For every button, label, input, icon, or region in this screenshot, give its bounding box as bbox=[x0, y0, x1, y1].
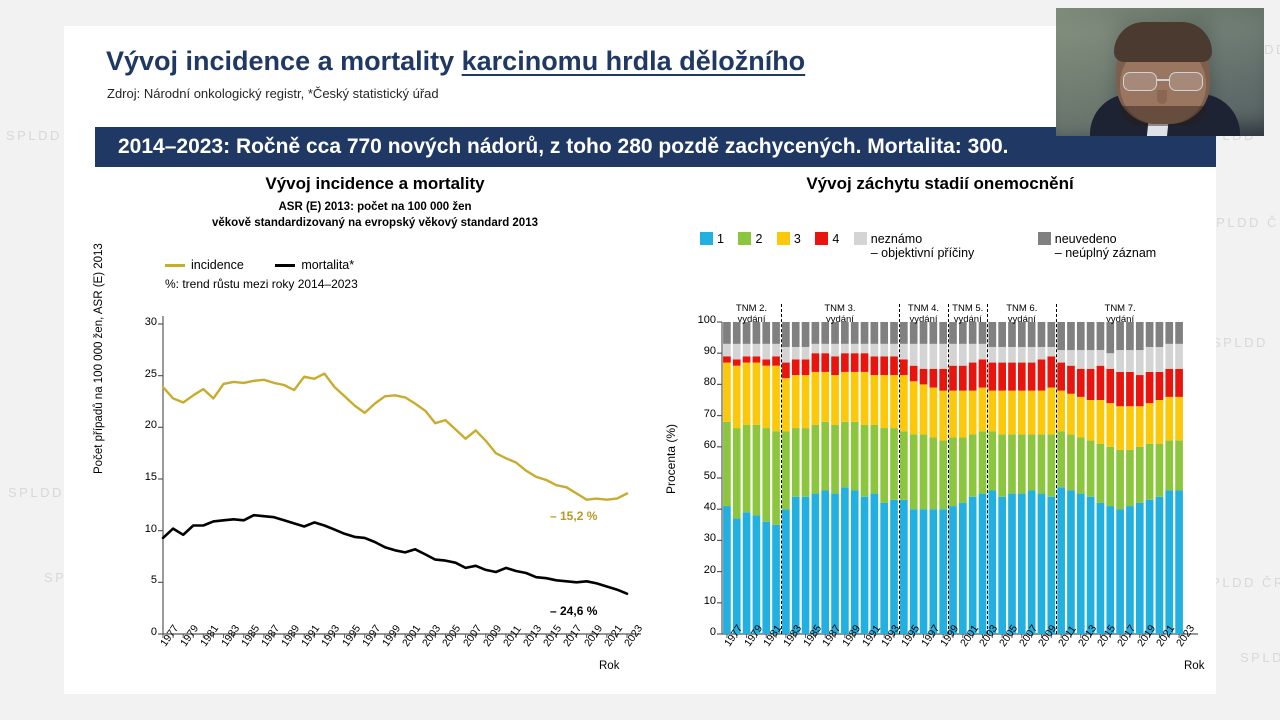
bar-segment-neznámo bbox=[1116, 350, 1124, 372]
bar-segment-neuvedeno bbox=[1146, 322, 1154, 347]
source-note: Zdroj: Národní onkologický registr, *Čes… bbox=[107, 86, 439, 101]
bar-segment-2 bbox=[1165, 441, 1173, 491]
bar-segment-4 bbox=[1175, 369, 1183, 397]
bar-segment-2 bbox=[812, 425, 820, 494]
bar-segment-neuvedeno bbox=[1047, 322, 1055, 347]
glasses-right-lens bbox=[1169, 72, 1203, 91]
bar-segment-3 bbox=[772, 366, 780, 432]
right-chart-y-tick: 60 bbox=[686, 439, 716, 451]
bar-segment-3 bbox=[733, 366, 741, 428]
bar-segment-neznámo bbox=[1165, 344, 1173, 369]
bar-segment-neznámo bbox=[812, 344, 820, 353]
bar-segment-4 bbox=[1136, 375, 1144, 406]
bar-segment-3 bbox=[1067, 394, 1075, 435]
bar-segment-neuvedeno bbox=[1126, 322, 1134, 350]
bar-segment-neznámo bbox=[851, 344, 859, 353]
bar-segment-3 bbox=[959, 391, 967, 438]
watermark: SPLDD bbox=[6, 128, 62, 143]
bar-segment-1 bbox=[1028, 490, 1036, 634]
bar-segment-neznámo bbox=[988, 347, 996, 363]
webcam-speaker-hair bbox=[1114, 22, 1212, 62]
stacked-bar bbox=[939, 322, 947, 634]
bar-segment-neznámo bbox=[1146, 347, 1154, 372]
stacked-bar bbox=[949, 322, 957, 634]
bar-segment-4 bbox=[1038, 359, 1046, 390]
stacked-bar bbox=[969, 322, 977, 634]
bar-segment-4 bbox=[1087, 369, 1095, 400]
bar-segment-1 bbox=[871, 494, 879, 634]
tnm-label-line2: vydání bbox=[1106, 314, 1134, 325]
bar-segment-3 bbox=[1156, 400, 1164, 444]
stacked-bar bbox=[733, 322, 741, 634]
bar-segment-2 bbox=[871, 425, 879, 494]
stacked-bar bbox=[920, 322, 928, 634]
bar-segment-neznámo bbox=[841, 344, 849, 353]
bar-segment-neznámo bbox=[1175, 344, 1183, 369]
stacked-bar bbox=[890, 322, 898, 634]
bar-segment-4 bbox=[812, 353, 820, 372]
bar-segment-4 bbox=[959, 366, 967, 391]
bar-segment-1 bbox=[861, 497, 869, 634]
bar-segment-3 bbox=[890, 375, 898, 428]
bar-segment-neznámo bbox=[1106, 353, 1114, 369]
bar-segment-neznámo bbox=[772, 344, 780, 356]
bar-segment-4 bbox=[1146, 372, 1154, 403]
bar-segment-neznámo bbox=[1067, 350, 1075, 366]
stage-distribution-chart: Vývoj záchytu stadií onemocnění 1 2 3 4 … bbox=[664, 174, 1216, 684]
mortality-trend-annotation: – 24,6 % bbox=[550, 604, 597, 618]
bar-segment-neuvedeno bbox=[1156, 322, 1164, 347]
stacked-bar bbox=[1018, 322, 1026, 634]
bar-segment-4 bbox=[949, 366, 957, 391]
bar-segment-2 bbox=[910, 434, 918, 509]
bar-segment-4 bbox=[772, 356, 780, 365]
bar-segment-neuvedeno bbox=[880, 322, 888, 344]
bar-segment-4 bbox=[969, 363, 977, 391]
stacked-bar bbox=[871, 322, 879, 634]
webcam-speaker-nose bbox=[1157, 90, 1167, 104]
bar-segment-4 bbox=[930, 369, 938, 388]
stacked-bar bbox=[1126, 322, 1134, 634]
tnm-label-line2: vydání bbox=[826, 314, 854, 325]
stacked-bar bbox=[1028, 322, 1036, 634]
highlight-banner: 2014–2023: Ročně cca 770 nových nádorů, … bbox=[95, 127, 1216, 167]
stacked-bar bbox=[1175, 322, 1183, 634]
stacked-bar bbox=[998, 322, 1006, 634]
bar-segment-2 bbox=[861, 425, 869, 497]
tnm-divider bbox=[781, 304, 782, 634]
left-chart-y-tick: 10 bbox=[129, 523, 157, 535]
bar-segment-4 bbox=[871, 356, 879, 375]
incidence-mortality-chart: Vývoj incidence a mortality ASR (E) 2013… bbox=[95, 174, 655, 684]
stacked-bar bbox=[851, 322, 859, 634]
bar-segment-4 bbox=[1106, 369, 1114, 403]
stacked-bar bbox=[1038, 322, 1046, 634]
tnm-label-line2: vydání bbox=[910, 314, 938, 325]
left-chart-x-axis-label: Rok bbox=[599, 660, 619, 672]
bar-segment-2 bbox=[723, 422, 731, 506]
highlight-banner-text: 2014–2023: Ročně cca 770 nových nádorů, … bbox=[118, 135, 1009, 159]
stacked-bar bbox=[1067, 322, 1075, 634]
bar-segment-1 bbox=[1047, 497, 1055, 634]
bar-segment-neznámo bbox=[1008, 347, 1016, 363]
stacked-bar bbox=[1008, 322, 1016, 634]
bar-segment-4 bbox=[900, 359, 908, 375]
bar-segment-2 bbox=[880, 428, 888, 503]
bar-segment-2 bbox=[1067, 434, 1075, 490]
right-chart-y-tick: 50 bbox=[686, 470, 716, 482]
tnm-divider bbox=[899, 304, 900, 634]
bar-segment-4 bbox=[910, 366, 918, 382]
bar-segment-neznámo bbox=[1087, 350, 1095, 369]
left-chart-y-tick: 20 bbox=[129, 419, 157, 431]
stacked-bar bbox=[1047, 322, 1055, 634]
bar-segment-4 bbox=[782, 363, 790, 379]
bar-segment-neznámo bbox=[920, 344, 928, 369]
bar-segment-4 bbox=[979, 359, 987, 387]
bar-segment-3 bbox=[1038, 391, 1046, 435]
bar-segment-3 bbox=[812, 372, 820, 425]
bar-segment-neznámo bbox=[1047, 347, 1055, 356]
bar-segment-2 bbox=[792, 428, 800, 497]
bar-segment-1 bbox=[1175, 490, 1183, 634]
bar-segment-1 bbox=[1146, 500, 1154, 634]
bar-segment-1 bbox=[762, 522, 770, 634]
bar-segment-4 bbox=[821, 353, 829, 372]
bar-segment-neznámo bbox=[969, 344, 977, 363]
stacked-bar bbox=[812, 322, 820, 634]
bar-segment-1 bbox=[782, 509, 790, 634]
bar-segment-3 bbox=[900, 375, 908, 431]
bar-segment-neznámo bbox=[998, 347, 1006, 363]
right-chart-y-tick: 40 bbox=[686, 501, 716, 513]
bar-segment-neuvedeno bbox=[1165, 322, 1173, 344]
bar-segment-2 bbox=[998, 434, 1006, 496]
bar-segment-4 bbox=[939, 369, 947, 391]
stacked-bar bbox=[782, 322, 790, 634]
bar-segment-1 bbox=[821, 490, 829, 634]
bar-segment-2 bbox=[1146, 444, 1154, 500]
bar-segment-neuvedeno bbox=[1087, 322, 1095, 350]
bar-segment-3 bbox=[1018, 391, 1026, 435]
bar-segment-3 bbox=[988, 391, 996, 432]
bar-segment-3 bbox=[1047, 388, 1055, 435]
bar-segment-2 bbox=[939, 441, 947, 510]
bar-segment-neznámo bbox=[753, 344, 761, 356]
bar-segment-4 bbox=[998, 363, 1006, 391]
stacked-bar bbox=[910, 322, 918, 634]
glasses-icon bbox=[1122, 72, 1204, 90]
bar-segment-3 bbox=[920, 384, 928, 434]
bar-segment-neznámo bbox=[1018, 347, 1026, 363]
bar-segment-2 bbox=[743, 425, 751, 512]
bar-segment-4 bbox=[831, 356, 839, 375]
bar-segment-neuvedeno bbox=[1077, 322, 1085, 350]
right-chart-plot bbox=[664, 174, 1216, 684]
right-chart-y-tick: 10 bbox=[686, 595, 716, 607]
bar-segment-2 bbox=[900, 431, 908, 500]
bar-segment-1 bbox=[802, 497, 810, 634]
stacked-bar bbox=[1077, 322, 1085, 634]
bar-segment-neuvedeno bbox=[1057, 322, 1065, 350]
bar-segment-neznámo bbox=[890, 344, 898, 356]
bar-segment-4 bbox=[890, 356, 898, 375]
bar-segment-neznámo bbox=[762, 344, 770, 360]
bar-segment-4 bbox=[1156, 372, 1164, 400]
right-chart-y-tick: 100 bbox=[686, 314, 716, 326]
bar-segment-3 bbox=[1057, 391, 1065, 432]
left-chart-y-tick: 30 bbox=[129, 316, 157, 328]
bar-segment-3 bbox=[802, 375, 810, 428]
stacked-bar bbox=[753, 322, 761, 634]
bar-segment-1 bbox=[1087, 497, 1095, 634]
bar-segment-3 bbox=[979, 388, 987, 432]
bar-segment-neuvedeno bbox=[1175, 322, 1183, 344]
bar-segment-1 bbox=[998, 497, 1006, 634]
bar-segment-neznámo bbox=[831, 344, 839, 356]
stacked-bar bbox=[1165, 322, 1173, 634]
bar-segment-neznámo bbox=[900, 344, 908, 360]
bar-segment-4 bbox=[1165, 369, 1173, 397]
bar-segment-neuvedeno bbox=[1116, 322, 1124, 350]
bar-segment-3 bbox=[1146, 403, 1154, 444]
bar-segment-3 bbox=[753, 363, 761, 425]
bar-segment-3 bbox=[1097, 400, 1105, 444]
bar-segment-4 bbox=[851, 353, 859, 372]
tnm-label-line2: vydání bbox=[737, 314, 765, 325]
bar-segment-1 bbox=[1077, 494, 1085, 634]
tnm-divider bbox=[948, 304, 949, 634]
bar-segment-neznámo bbox=[1028, 347, 1036, 363]
stacked-bar bbox=[959, 322, 967, 634]
bar-segment-neznámo bbox=[910, 344, 918, 366]
bar-segment-neznámo bbox=[1126, 350, 1134, 372]
bar-segment-2 bbox=[802, 428, 810, 497]
bar-segment-2 bbox=[959, 437, 967, 503]
bar-segment-4 bbox=[920, 369, 928, 385]
bar-segment-neuvedeno bbox=[1136, 322, 1144, 350]
bar-segment-3 bbox=[831, 375, 839, 425]
right-chart-y-tick: 90 bbox=[686, 345, 716, 357]
bar-segment-3 bbox=[1028, 391, 1036, 435]
bar-segment-1 bbox=[1008, 494, 1016, 634]
webcam-speaker-face-shadow bbox=[1120, 106, 1206, 126]
bar-segment-1 bbox=[851, 490, 859, 634]
bar-segment-1 bbox=[920, 509, 928, 634]
bar-segment-1 bbox=[979, 494, 987, 634]
tnm-divider bbox=[987, 304, 988, 634]
bar-segment-2 bbox=[1156, 444, 1164, 497]
bar-segment-1 bbox=[743, 512, 751, 634]
tnm-label-line1: TNM 4. bbox=[908, 303, 939, 314]
bar-segment-neuvedeno bbox=[1106, 322, 1114, 353]
bar-segment-2 bbox=[841, 422, 849, 488]
bar-segment-3 bbox=[762, 366, 770, 428]
bar-segment-2 bbox=[930, 437, 938, 509]
right-chart-y-tick: 80 bbox=[686, 376, 716, 388]
bar-segment-3 bbox=[1136, 406, 1144, 447]
stacked-bar bbox=[1116, 322, 1124, 634]
bar-segment-2 bbox=[821, 422, 829, 491]
bar-segment-3 bbox=[939, 391, 947, 441]
stacked-bar bbox=[1146, 322, 1154, 634]
tnm-edition-label: TNM 7.vydání bbox=[1094, 304, 1146, 326]
bar-segment-3 bbox=[1165, 397, 1173, 441]
bar-segment-1 bbox=[930, 509, 938, 634]
bar-segment-4 bbox=[1047, 356, 1055, 387]
bar-segment-neuvedeno bbox=[802, 322, 810, 347]
bar-segment-3 bbox=[1106, 403, 1114, 447]
bar-segment-1 bbox=[831, 494, 839, 634]
bar-segment-2 bbox=[1097, 444, 1105, 503]
bar-segment-1 bbox=[841, 487, 849, 634]
tnm-label-line1: TNM 6. bbox=[1006, 303, 1037, 314]
bar-segment-2 bbox=[831, 425, 839, 494]
tnm-label-line1: TNM 2. bbox=[736, 303, 767, 314]
right-chart-y-tick: 20 bbox=[686, 564, 716, 576]
bar-segment-2 bbox=[1087, 441, 1095, 497]
bar-segment-4 bbox=[762, 359, 770, 365]
page-title: Vývoj incidence a mortality karcinomu hr… bbox=[106, 46, 805, 77]
tnm-label-line1: TNM 3. bbox=[824, 303, 855, 314]
stacked-bar bbox=[772, 322, 780, 634]
stacked-bar bbox=[1156, 322, 1164, 634]
bar-segment-neznámo bbox=[1077, 350, 1085, 369]
bar-segment-2 bbox=[762, 428, 770, 522]
stacked-bar bbox=[762, 322, 770, 634]
bar-segment-1 bbox=[910, 509, 918, 634]
page-title-part2: karcinomu hrdla děložního bbox=[462, 46, 806, 76]
bar-segment-3 bbox=[930, 388, 938, 438]
stacked-bar bbox=[792, 322, 800, 634]
stacked-bar bbox=[930, 322, 938, 634]
bar-segment-1 bbox=[1126, 506, 1134, 634]
right-chart-y-tick: 30 bbox=[686, 532, 716, 544]
bar-segment-3 bbox=[782, 378, 790, 431]
bar-segment-4 bbox=[1126, 372, 1134, 406]
bar-segment-2 bbox=[988, 431, 996, 490]
bar-segment-2 bbox=[1018, 434, 1026, 493]
stacked-bar bbox=[723, 322, 731, 634]
bar-segment-neznámo bbox=[949, 344, 957, 366]
bar-segment-4 bbox=[733, 359, 741, 365]
bar-segment-2 bbox=[1028, 434, 1036, 490]
page-title-part1: Vývoj incidence a mortality bbox=[106, 46, 462, 76]
tnm-divider bbox=[1056, 304, 1057, 634]
bar-segment-4 bbox=[1018, 363, 1026, 391]
bar-segment-3 bbox=[1116, 406, 1124, 450]
stacked-bar bbox=[821, 322, 829, 634]
bar-segment-3 bbox=[1175, 397, 1183, 441]
stacked-bar bbox=[1057, 322, 1065, 634]
bar-segment-1 bbox=[1018, 494, 1026, 634]
bar-segment-1 bbox=[1106, 506, 1114, 634]
stacked-bar bbox=[880, 322, 888, 634]
bar-segment-1 bbox=[772, 525, 780, 634]
bar-segment-neznámo bbox=[723, 344, 731, 356]
stacked-bar bbox=[861, 322, 869, 634]
bar-segment-3 bbox=[1077, 397, 1085, 438]
bar-segment-neznámo bbox=[802, 347, 810, 359]
stacked-bar bbox=[900, 322, 908, 634]
bar-segment-2 bbox=[1057, 431, 1065, 487]
webcam-overlay[interactable] bbox=[1056, 8, 1264, 136]
bar-segment-neznámo bbox=[861, 344, 869, 353]
bar-segment-1 bbox=[969, 497, 977, 634]
bar-segment-1 bbox=[1116, 509, 1124, 634]
bar-segment-3 bbox=[861, 372, 869, 425]
bar-segment-1 bbox=[1057, 487, 1065, 634]
bar-segment-2 bbox=[733, 428, 741, 518]
watermark: SPLDD bbox=[1240, 650, 1280, 665]
bar-segment-neznámo bbox=[743, 344, 751, 356]
bar-segment-1 bbox=[1156, 497, 1164, 634]
bar-segment-2 bbox=[969, 434, 977, 496]
bar-segment-3 bbox=[871, 375, 879, 425]
bar-segment-3 bbox=[841, 372, 849, 422]
incidence-trend-annotation: – 15,2 % bbox=[550, 509, 597, 523]
bar-segment-3 bbox=[880, 375, 888, 428]
bar-segment-4 bbox=[802, 359, 810, 375]
left-chart-y-tick: 0 bbox=[129, 626, 157, 638]
left-chart-y-tick: 5 bbox=[129, 574, 157, 586]
watermark: SPLDD ČR bbox=[1205, 215, 1280, 230]
bar-segment-1 bbox=[1038, 494, 1046, 634]
bar-segment-3 bbox=[792, 375, 800, 428]
bar-segment-4 bbox=[1028, 363, 1036, 391]
tnm-edition-label: TNM 5.vydání bbox=[942, 304, 994, 326]
bar-segment-2 bbox=[1038, 434, 1046, 493]
bar-segment-3 bbox=[998, 391, 1006, 435]
bar-segment-1 bbox=[959, 503, 967, 634]
bar-segment-neznámo bbox=[782, 347, 790, 363]
bar-segment-neuvedeno bbox=[871, 322, 879, 344]
bar-segment-2 bbox=[1116, 450, 1124, 509]
bar-segment-4 bbox=[841, 353, 849, 372]
bar-segment-2 bbox=[890, 428, 898, 500]
bar-segment-neznámo bbox=[979, 344, 987, 360]
bar-segment-neznámo bbox=[871, 344, 879, 356]
tnm-edition-label: TNM 6.vydání bbox=[996, 304, 1048, 326]
right-chart-y-tick: 70 bbox=[686, 408, 716, 420]
stacked-bar bbox=[1106, 322, 1114, 634]
stacked-bar bbox=[988, 322, 996, 634]
bar-segment-2 bbox=[782, 431, 790, 509]
bar-segment-1 bbox=[1097, 503, 1105, 634]
slide: Vývoj incidence a mortality karcinomu hr… bbox=[64, 26, 1216, 694]
bar-segment-4 bbox=[743, 356, 751, 362]
bar-segment-neznámo bbox=[792, 347, 800, 359]
watermark: SPLDD bbox=[1212, 335, 1268, 350]
bar-segment-neuvedeno bbox=[792, 322, 800, 347]
bar-segment-4 bbox=[1097, 366, 1105, 400]
bar-segment-1 bbox=[890, 500, 898, 634]
bar-segment-2 bbox=[1126, 450, 1134, 506]
bar-segment-4 bbox=[1057, 363, 1065, 391]
bar-segment-1 bbox=[988, 490, 996, 634]
bar-segment-neznámo bbox=[1038, 347, 1046, 359]
bar-segment-4 bbox=[861, 353, 869, 372]
right-chart-x-axis-label: Rok bbox=[1184, 660, 1204, 672]
bar-segment-4 bbox=[1077, 369, 1085, 397]
bar-segment-1 bbox=[939, 509, 947, 634]
bar-segment-neznámo bbox=[821, 344, 829, 353]
right-chart-y-tick: 0 bbox=[686, 626, 716, 638]
bar-segment-neznámo bbox=[1156, 347, 1164, 372]
tnm-label-line1: TNM 7. bbox=[1105, 303, 1136, 314]
bar-segment-4 bbox=[1008, 363, 1016, 391]
bar-segment-4 bbox=[988, 363, 996, 391]
